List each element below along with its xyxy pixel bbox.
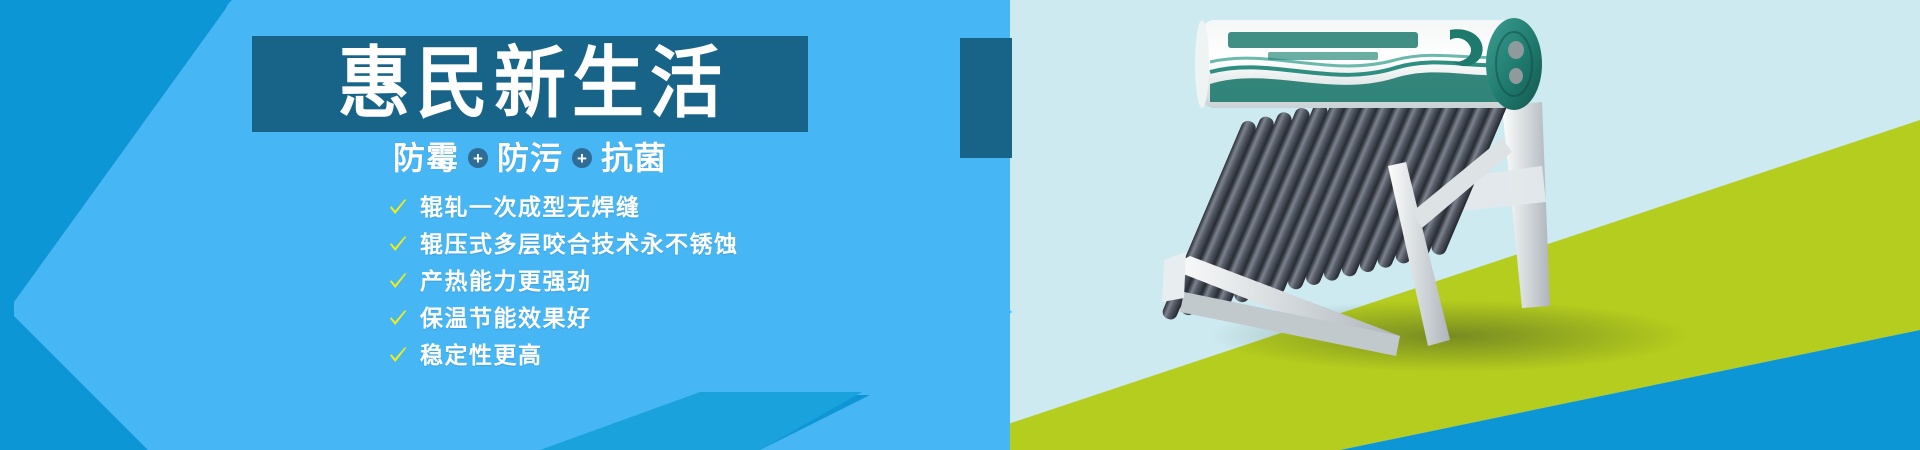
plus-badge-icon: + xyxy=(468,148,488,168)
check-icon xyxy=(388,198,408,218)
title-block: 惠民新生活 xyxy=(252,36,808,132)
feature-label: 稳定性更高 xyxy=(420,344,543,367)
tank-cap-port xyxy=(1508,41,1524,59)
feature-list: 辊轧一次成型无焊缝 辊压式多层咬合技术永不锈蚀 产热能力更强劲 保温节能效果好 … xyxy=(388,192,739,371)
tank-brand-text xyxy=(1228,32,1418,48)
feature-label: 辊轧一次成型无焊缝 xyxy=(420,196,641,219)
page-title: 惠民新生活 xyxy=(332,45,728,123)
check-icon xyxy=(388,346,408,366)
feature-label: 产热能力更强劲 xyxy=(420,270,592,293)
product-image-solar-water-heater xyxy=(1150,6,1870,374)
feature-label: 保温节能效果好 xyxy=(420,307,592,330)
list-item: 保温节能效果好 xyxy=(388,303,739,334)
subtitle-word-2: 防污 xyxy=(497,142,563,174)
storage-tank xyxy=(1195,18,1542,110)
check-icon xyxy=(388,272,408,292)
check-icon xyxy=(388,235,408,255)
subtitle-word-3: 抗菌 xyxy=(601,142,667,174)
list-item: 辊轧一次成型无焊缝 xyxy=(388,192,739,223)
subtitle-row: 防霉 + 防污 + 抗菌 xyxy=(252,142,808,174)
tank-cap-port xyxy=(1509,68,1523,84)
subtitle-word-1: 防霉 xyxy=(393,142,459,174)
check-icon xyxy=(388,309,408,329)
accent-square-dark xyxy=(960,38,1012,158)
feature-label: 辊压式多层咬合技术永不锈蚀 xyxy=(420,233,739,256)
list-item: 辊压式多层咬合技术永不锈蚀 xyxy=(388,229,739,260)
tank-brand-subtext xyxy=(1268,52,1378,60)
plus-badge-icon: + xyxy=(572,148,592,168)
promo-banner: 惠民新生活 防霉 + 防污 + 抗菌 辊轧一次成型无焊缝 辊压式多层咬合技术永不… xyxy=(0,0,1920,450)
list-item: 稳定性更高 xyxy=(388,340,739,371)
list-item: 产热能力更强劲 xyxy=(388,266,739,297)
